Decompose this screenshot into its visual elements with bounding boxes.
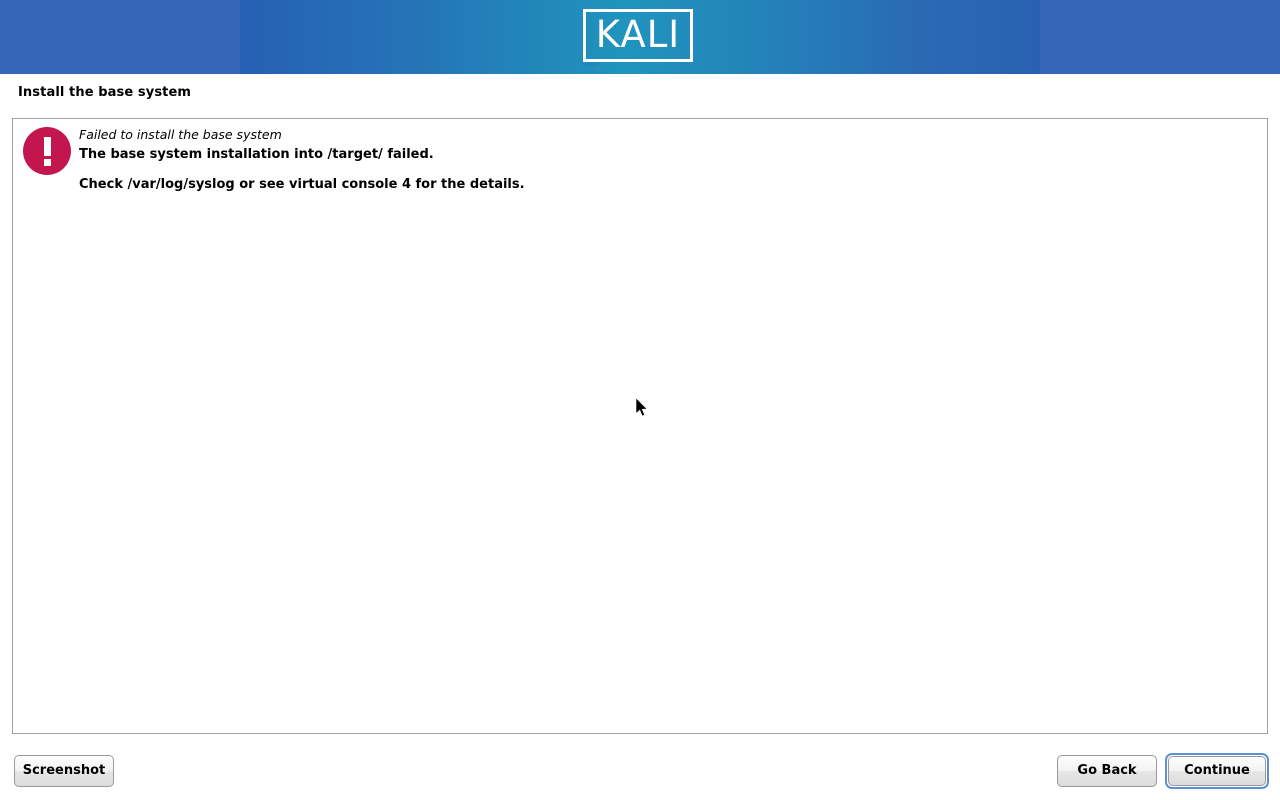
error-exclamation-icon	[23, 127, 71, 175]
continue-button[interactable]: Continue	[1168, 756, 1266, 786]
kali-logo-text: KALI	[583, 9, 693, 62]
kali-logo: KALI	[583, 9, 697, 66]
exclamation-stem	[44, 137, 51, 156]
screenshot-button[interactable]: Screenshot	[14, 755, 114, 787]
content-panel: Failed to install the base system The ba…	[12, 118, 1268, 734]
kali-banner: KALI	[0, 0, 1280, 74]
installer-window: KALI Install the base system Failed to i…	[0, 0, 1280, 800]
page-title: Install the base system	[18, 85, 191, 100]
error-line-secondary: Check /var/log/syslog or see virtual con…	[79, 176, 1179, 194]
error-heading: Failed to install the base system	[79, 127, 1179, 143]
go-back-button[interactable]: Go Back	[1057, 755, 1157, 787]
kali-logo-notch-icon	[586, 62, 599, 66]
continue-button-focus-ring[interactable]: Continue	[1165, 753, 1269, 789]
error-text-group: Failed to install the base system The ba…	[79, 127, 1179, 194]
exclamation-dot	[44, 159, 51, 166]
error-line-primary: The base system installation into /targe…	[79, 146, 1179, 164]
